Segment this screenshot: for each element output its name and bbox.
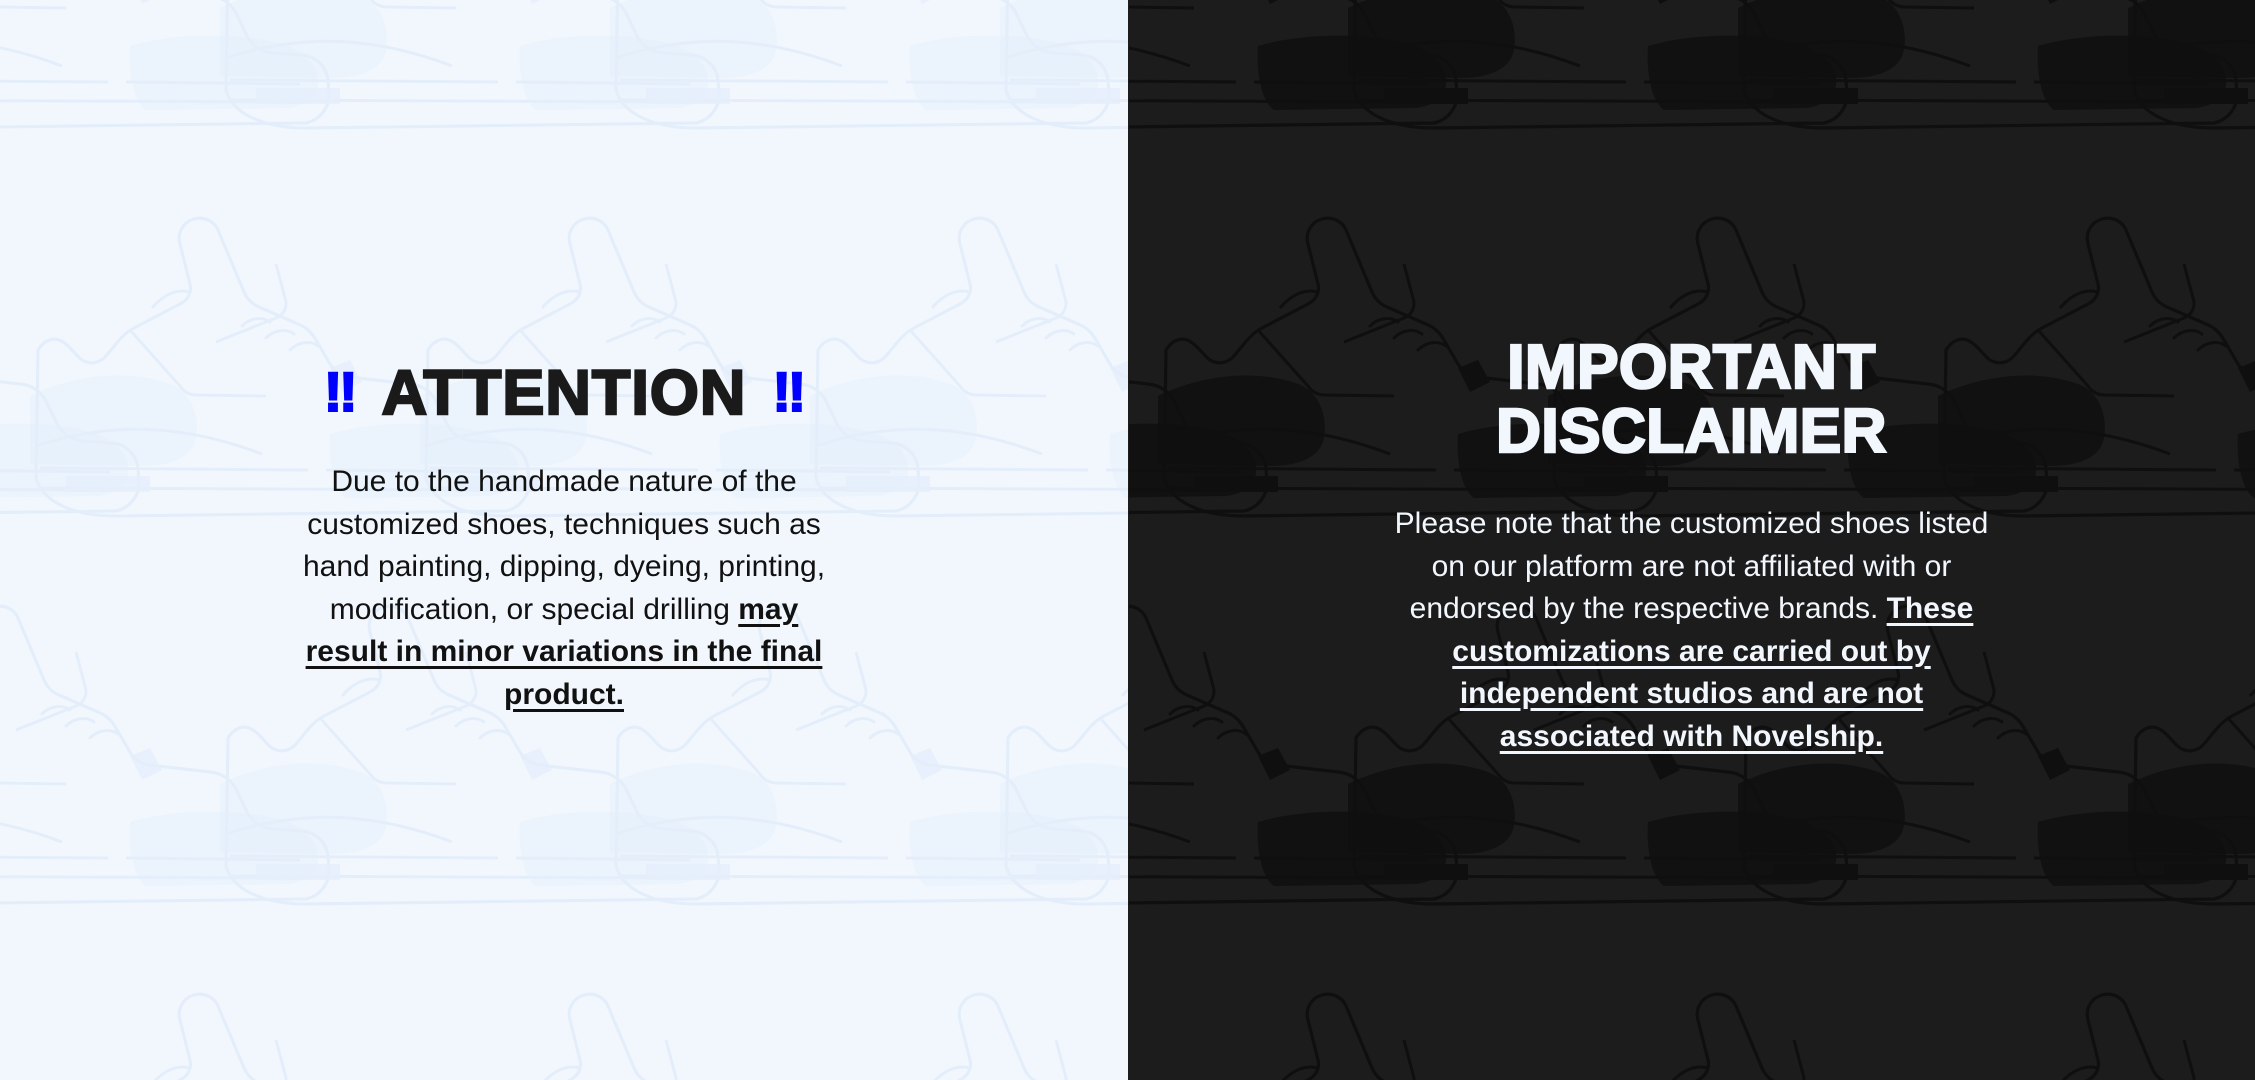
attention-heading-text: ATTENTION: [382, 362, 747, 425]
attention-disclaimer-banner: ‼ ATTENTION ‼ Due to the handmade nature…: [0, 0, 2255, 1080]
attention-body: Due to the handmade nature of the custom…: [0, 461, 1128, 717]
disclaimer-panel: IMPORTANT DISCLAIMER Please note that th…: [1128, 0, 2255, 1080]
disclaimer-heading-line-1: IMPORTANT: [1507, 333, 1875, 402]
disclaimer-heading: IMPORTANT DISCLAIMER: [1128, 336, 2255, 465]
disclaimer-body: Please note that the customized shoes li…: [1128, 503, 2255, 759]
double-exclamation-left-icon: ‼: [324, 364, 356, 420]
attention-heading: ‼ ATTENTION ‼: [0, 362, 1128, 425]
disclaimer-content: IMPORTANT DISCLAIMER Please note that th…: [1128, 336, 2255, 759]
disclaimer-heading-line-2: DISCLAIMER: [1496, 397, 1887, 466]
attention-content: ‼ ATTENTION ‼ Due to the handmade nature…: [0, 362, 1128, 717]
panel-divider: [1128, 0, 1129, 1080]
double-exclamation-right-icon: ‼: [772, 364, 804, 420]
attention-panel: ‼ ATTENTION ‼ Due to the handmade nature…: [0, 0, 1128, 1080]
